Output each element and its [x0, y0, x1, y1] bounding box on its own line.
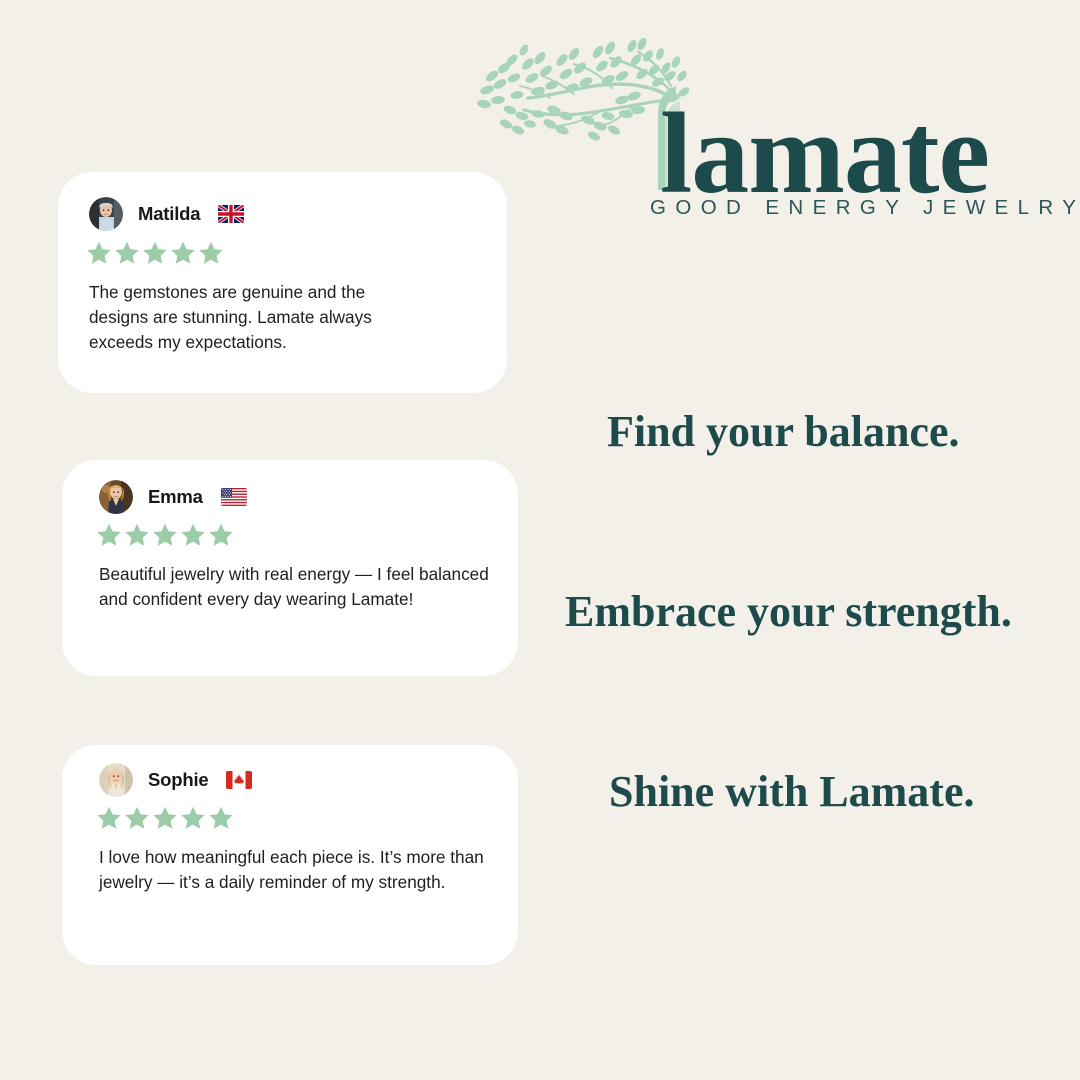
review-text: Beautiful jewelry with real energy — I f… [99, 562, 494, 612]
reviewer-name: Sophie [148, 769, 208, 791]
rating-stars [86, 240, 224, 266]
review-header: Matilda [89, 197, 244, 231]
avatar [99, 763, 133, 797]
brand-tagline: GOOD ENERGY JEWELRY [650, 196, 1080, 220]
brand-logo: lamate GOOD ENERGY JEWELRY [462, 38, 1042, 233]
tagline-shine-with-lamate: Shine with Lamate. [609, 766, 974, 818]
star-icon [96, 522, 122, 548]
review-text: I love how meaningful each piece is. It’… [99, 845, 499, 895]
avatar [89, 197, 123, 231]
promo-canvas: lamate GOOD ENERGY JEWELRY [0, 0, 1080, 1080]
star-icon [180, 522, 206, 548]
star-icon [124, 522, 150, 548]
star-icon [180, 805, 206, 831]
reviewer-name: Emma [148, 486, 203, 508]
tagline-find-your-balance: Find your balance. [607, 406, 959, 458]
flag-canada-icon [226, 771, 252, 789]
star-icon [208, 805, 234, 831]
star-icon [198, 240, 224, 266]
review-card: Sophie I love how meaningful each piece … [62, 745, 518, 965]
review-card: Matilda The gemstones are genuine and th… [58, 172, 507, 393]
brand-wordmark: lamate [660, 96, 989, 212]
star-icon [208, 522, 234, 548]
flag-uk-icon [218, 205, 244, 223]
review-header: Sophie [99, 763, 252, 797]
star-icon [142, 240, 168, 266]
star-icon [96, 805, 122, 831]
tagline-embrace-your-strength: Embrace your strength. [565, 586, 1012, 638]
star-icon [170, 240, 196, 266]
star-icon [86, 240, 112, 266]
review-header: Emma [99, 480, 247, 514]
rating-stars [96, 522, 234, 548]
review-text: The gemstones are genuine and the design… [89, 280, 419, 355]
review-card: Emma [62, 460, 518, 676]
flag-us-icon [221, 488, 247, 506]
rating-stars [96, 805, 234, 831]
star-icon [114, 240, 140, 266]
avatar [99, 480, 133, 514]
star-icon [152, 522, 178, 548]
star-icon [124, 805, 150, 831]
star-icon [152, 805, 178, 831]
reviewer-name: Matilda [138, 203, 200, 225]
